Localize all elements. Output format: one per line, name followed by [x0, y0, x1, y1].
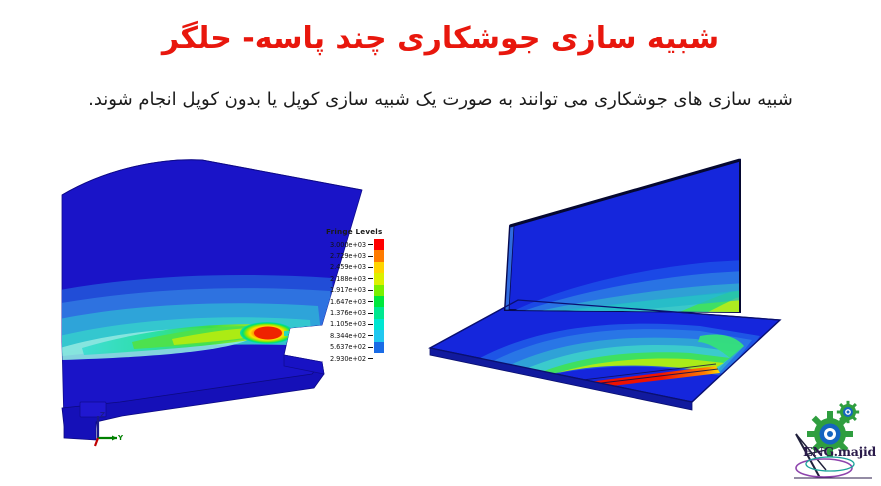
fringe-legend-title: Fringe Levels: [326, 227, 398, 236]
fringe-legend-rows: 3.000e+032.729e+032.459e+032.188e+031.91…: [326, 239, 398, 364]
fringe-level-row: 2.188e+03: [326, 273, 398, 284]
axis-triad-svg: Z Y: [84, 408, 128, 452]
fringe-level-label: 3.000e+03: [326, 241, 366, 249]
fringe-level-swatch: [374, 273, 384, 284]
fringe-level-swatch: [374, 319, 384, 330]
fringe-level-tick: [368, 244, 373, 245]
fringe-level-swatch: [374, 250, 384, 261]
page-subtitle: شبیه سازی های جوشکاری می توانند به صورت …: [22, 88, 859, 111]
logo-text: ENG.majid: [803, 444, 876, 459]
fringe-level-row: 2.930e+02: [326, 353, 398, 364]
fringe-level-label: 8.344e+02: [326, 332, 366, 340]
fringe-level-tick: [368, 358, 373, 359]
fringe-level-label: 1.647e+03: [326, 298, 366, 306]
fringe-level-label: 1.917e+03: [326, 286, 366, 294]
fringe-level-label: 1.376e+03: [326, 309, 366, 317]
fringe-level-row: 1.917e+03: [326, 285, 398, 296]
fringe-level-row: 2.459e+03: [326, 262, 398, 273]
fringe-level-tick: [368, 324, 373, 325]
axis-y-arrow: [112, 436, 117, 441]
fringe-level-row: 1.647e+03: [326, 296, 398, 307]
fringe-level-tick: [368, 347, 373, 348]
fringe-level-swatch: [374, 353, 384, 364]
fringe-level-label: 2.459e+03: [326, 263, 366, 271]
fringe-level-swatch: [374, 330, 384, 341]
fringe-level-tick: [368, 278, 373, 279]
slide-canvas: شبیه سازی جوشکاری چند پاسه- حلگر شبیه سا…: [0, 0, 881, 486]
fringe-level-tick: [368, 290, 373, 291]
fringe-level-swatch: [374, 296, 384, 307]
page-title: شبیه سازی جوشکاری چند پاسه- حلگر: [22, 22, 859, 57]
fringe-level-row: 8.344e+02: [326, 330, 398, 341]
fringe-level-swatch: [374, 307, 384, 318]
fringe-level-tick: [368, 301, 373, 302]
fringe-level-label: 5.637e+02: [326, 343, 366, 351]
fringe-level-row: 5.637e+02: [326, 342, 398, 353]
fringe-level-tick: [368, 267, 373, 268]
fringe-level-row: 1.376e+03: [326, 307, 398, 318]
fringe-level-tick: [368, 335, 373, 336]
axis-z-label: Z: [100, 411, 105, 419]
fea-figure-right: [400, 140, 830, 430]
fringe-level-swatch: [374, 239, 384, 250]
fringe-levels-legend: Fringe Levels 3.000e+032.729e+032.459e+0…: [326, 227, 398, 377]
fringe-level-row: 2.729e+03: [326, 250, 398, 261]
fringe-level-swatch: [374, 285, 384, 296]
fringe-level-row: 3.000e+03: [326, 239, 398, 250]
fringe-level-label: 2.729e+03: [326, 252, 366, 260]
fringe-level-swatch: [374, 262, 384, 273]
fringe-level-label: 2.930e+02: [326, 355, 366, 363]
axis-x-line: [95, 438, 98, 446]
fea-contour-plot-right: [400, 140, 830, 430]
fringe-level-tick: [368, 313, 373, 314]
axis-y-label: Y: [117, 434, 124, 442]
fringe-level-swatch: [374, 342, 384, 353]
fringe-level-row: 1.105e+03: [326, 319, 398, 330]
fringe-level-label: 2.188e+03: [326, 275, 366, 283]
axis-triad: Z Y: [84, 408, 128, 452]
brand-logo-svg: [786, 392, 878, 484]
fringe-level-label: 1.105e+03: [326, 320, 366, 328]
brand-logo: ENG.majid: [786, 392, 878, 484]
fringe-level-tick: [368, 256, 373, 257]
